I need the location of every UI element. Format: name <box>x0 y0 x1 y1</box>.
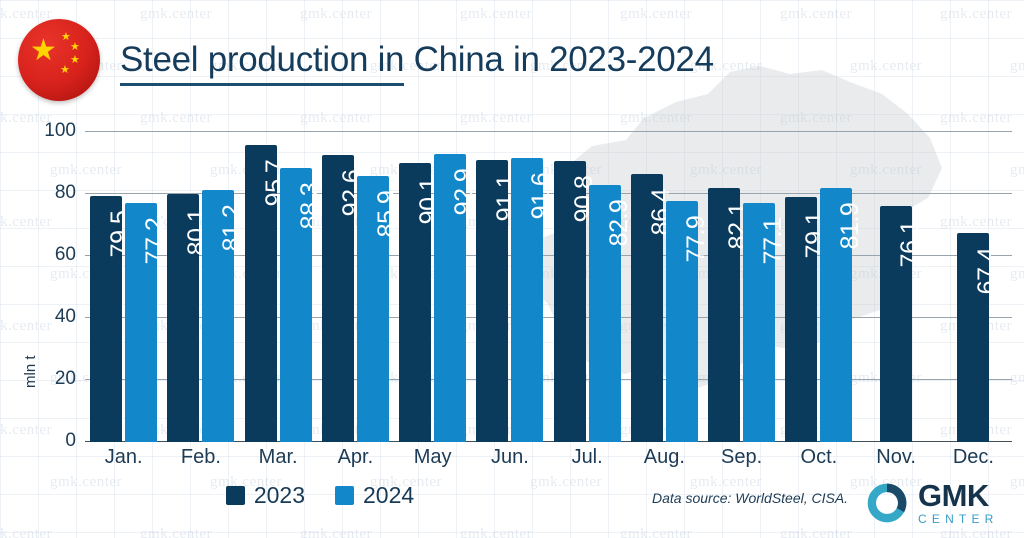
bar-group: 92.685.9 <box>317 132 394 442</box>
y-axis-tick: 80 <box>55 182 76 204</box>
footer: 20232024 Data source: WorldSteel, CISA. … <box>0 478 1024 538</box>
bar-2024-Apr[interactable]: 85.9 <box>357 176 389 442</box>
bar-group: 79.577.2 <box>85 132 162 442</box>
bar-2024-Mar[interactable]: 88.3 <box>280 168 312 442</box>
bar-group: 86.477.9 <box>626 132 703 442</box>
bar-chart: mln t 020406080100 79.577.280.181.295.78… <box>0 118 1024 480</box>
y-axis-tick: 60 <box>55 244 76 266</box>
x-axis-label-Jul: Jul. <box>549 446 626 469</box>
gmk-center-logo: GMK CENTER <box>866 480 999 525</box>
x-axis-label-Jan: Jan. <box>85 446 162 469</box>
y-axis-tick: 20 <box>55 368 76 390</box>
bar-2023-Jan[interactable]: 79.5 <box>90 196 122 442</box>
bar-2024-Jul[interactable]: 82.9 <box>589 185 621 442</box>
legend-label: 2024 <box>363 482 414 509</box>
bar-groups: 79.577.280.181.295.788.392.685.990.192.9… <box>85 132 1012 442</box>
flag-star-small-4: ★ <box>60 65 70 76</box>
x-axis-label-Oct: Oct. <box>780 446 857 469</box>
bar-2024-Sep[interactable]: 77.1 <box>743 203 775 442</box>
bar-group: 90.192.9 <box>394 132 471 442</box>
bar-2024-Oct[interactable]: 81.9 <box>820 188 852 442</box>
y-axis-tick: 0 <box>65 430 76 452</box>
legend-item-2024[interactable]: 2024 <box>335 482 414 509</box>
bar-2023-Jul[interactable]: 90.8 <box>554 161 586 442</box>
x-axis-labels: Jan.Feb.Mar.Apr.MayJun.Jul.Aug.Sep.Oct.N… <box>85 446 1012 469</box>
flag-star-small-3: ★ <box>70 55 80 66</box>
bar-2023-Jun[interactable]: 91.1 <box>476 160 508 442</box>
bar-group: 91.191.6 <box>471 132 548 442</box>
infographic-root: gmk.centergmk.centergmk.centergmk.center… <box>0 0 1024 538</box>
bar-2023-Apr[interactable]: 92.6 <box>322 155 354 442</box>
page-title-underlined: Steel production in <box>120 40 404 86</box>
y-axis-tick: 40 <box>55 306 76 328</box>
logo-center-text: CENTER <box>918 513 999 525</box>
bar-2024-Feb[interactable]: 81.2 <box>202 190 234 442</box>
page-title-rest: China in 2023-2024 <box>404 40 714 79</box>
bar-group: 82.177.1 <box>703 132 780 442</box>
page-title: Steel production in China in 2023-2024 <box>120 40 714 80</box>
flag-star-small-2: ★ <box>70 42 80 53</box>
x-axis-label-Apr: Apr. <box>317 446 394 469</box>
bar-group: 79.181.9 <box>780 132 857 442</box>
bar-2024-Jan[interactable]: 77.2 <box>125 203 157 442</box>
flag-star-large: ★ <box>30 36 57 66</box>
bar-group: 90.882.9 <box>549 132 626 442</box>
header: ★ ★ ★ ★ ★ Steel production in China in 2… <box>0 0 1024 120</box>
legend-item-2023[interactable]: 2023 <box>226 482 305 509</box>
bar-group: 67.4 <box>935 132 1012 442</box>
x-axis-label-Feb: Feb. <box>162 446 239 469</box>
x-axis-label-Nov: Nov. <box>858 446 935 469</box>
bar-2023-Oct[interactable]: 79.1 <box>785 197 817 442</box>
bar-2024-May[interactable]: 92.9 <box>434 154 466 442</box>
gmk-donut-icon <box>866 482 908 524</box>
legend-swatch <box>226 486 245 505</box>
x-axis-label-Jun: Jun. <box>471 446 548 469</box>
bar-2023-May[interactable]: 90.1 <box>399 163 431 442</box>
bar-group: 95.788.3 <box>240 132 317 442</box>
x-axis-label-May: May <box>394 446 471 469</box>
bar-2023-Sep[interactable]: 82.1 <box>708 188 740 443</box>
bar-value-label: 67.4 <box>973 248 1002 295</box>
x-axis-label-Dec: Dec. <box>935 446 1012 469</box>
logo-text: GMK CENTER <box>918 480 999 525</box>
chart-legend: 20232024 <box>0 482 640 509</box>
bar-2023-Aug[interactable]: 86.4 <box>631 174 663 442</box>
bar-group: 80.181.2 <box>162 132 239 442</box>
x-axis-label-Sep: Sep. <box>703 446 780 469</box>
logo-gmk-text: GMK <box>918 480 999 511</box>
bar-2024-Aug[interactable]: 77.9 <box>666 201 698 442</box>
bar-2023-Mar[interactable]: 95.7 <box>245 145 277 442</box>
y-axis-tick: 100 <box>44 120 76 142</box>
data-source-note: Data source: WorldSteel, CISA. <box>652 490 848 506</box>
bar-2023-Dec[interactable]: 67.4 <box>957 233 989 442</box>
bar-2024-Jun[interactable]: 91.6 <box>511 158 543 442</box>
legend-swatch <box>335 486 354 505</box>
x-axis-label-Mar: Mar. <box>240 446 317 469</box>
plot-area: 020406080100 79.577.280.181.295.788.392.… <box>85 132 1012 442</box>
bar-2023-Nov[interactable]: 76.1 <box>880 206 912 442</box>
china-flag-circle-icon: ★ ★ ★ ★ ★ <box>18 19 100 101</box>
legend-label: 2023 <box>254 482 305 509</box>
bar-group: 76.1 <box>858 132 935 442</box>
y-axis-label: mln t <box>22 355 39 388</box>
bar-value-label: 76.1 <box>896 221 925 268</box>
x-axis-label-Aug: Aug. <box>626 446 703 469</box>
bar-2023-Feb[interactable]: 80.1 <box>167 194 199 442</box>
